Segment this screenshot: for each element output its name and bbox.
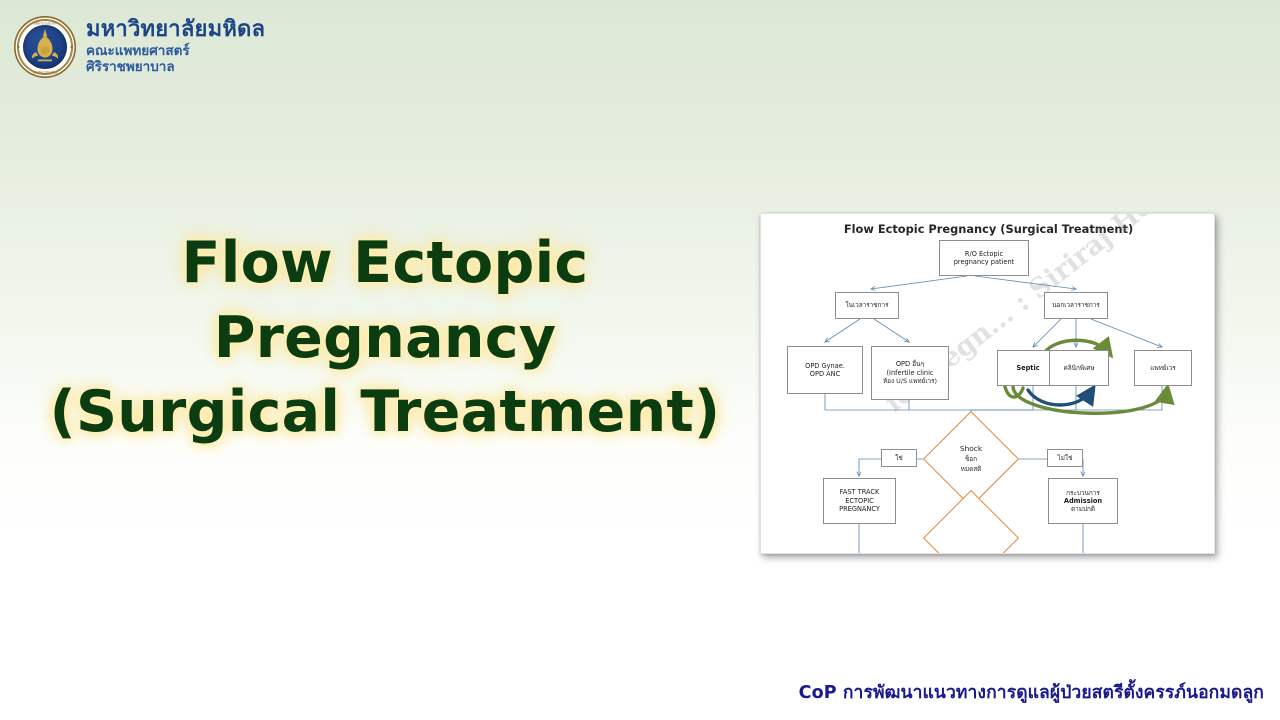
node-in-hours: ในเวลาราชการ bbox=[835, 292, 899, 319]
node-text: Shock bbox=[960, 443, 982, 454]
node-fast-track: FAST TRACK ECTOPIC PREGNANCY bbox=[823, 478, 896, 524]
node-text: OPD ANC bbox=[810, 370, 840, 378]
title-line-1: Flow Ectopic bbox=[40, 226, 730, 301]
node-doctor-on-call: แพทย์เวร bbox=[1134, 350, 1192, 386]
branch-label-yes: ใช่ bbox=[881, 449, 917, 467]
flowchart-image: Flow Ectopic Pregnancy (Surgical Treatme… bbox=[760, 213, 1215, 554]
page-title: Flow Ectopic Pregnancy (Surgical Treatme… bbox=[40, 226, 730, 450]
node-text: FAST TRACK bbox=[840, 488, 880, 496]
node-text: หมดสติ bbox=[961, 465, 982, 475]
node-text: (Infertile clinic bbox=[886, 369, 933, 377]
node-text: R/O Ectopic bbox=[965, 250, 1003, 258]
node-text: OPD อื่นๆ bbox=[896, 360, 924, 368]
branch-label-no: ไม่ใช่ bbox=[1047, 449, 1083, 467]
slide-canvas: อตฺตานํ อุปมํ กเร มหาวิทยาลัยมหิดล มหาวิ… bbox=[0, 0, 1280, 720]
node-text: นอกเวลาราชการ bbox=[1052, 301, 1100, 309]
node-text: ใช่ bbox=[895, 454, 902, 462]
node-text: ห้อง U/S แพทย์เวร) bbox=[883, 377, 937, 385]
svg-text:อตฺตานํ อุปมํ กเร: อตฺตานํ อุปมํ กเร bbox=[34, 22, 56, 27]
decision-shock-label: Shock ช็อก หมดสติ bbox=[927, 432, 1015, 486]
node-text: Admission bbox=[1064, 497, 1102, 505]
node-text: ECTOPIC bbox=[845, 497, 874, 505]
node-text: pregnancy patient bbox=[954, 258, 1014, 266]
footer-caption: CoP การพัฒนาแนวทางการดูแลผู้ป่วยสตรีตั้ง… bbox=[799, 678, 1264, 706]
node-text: แพทย์เวร bbox=[1150, 364, 1176, 372]
node-text: PREGNANCY bbox=[839, 505, 880, 513]
node-text: ในเวลาราชการ bbox=[845, 301, 888, 309]
university-name: มหาวิทยาลัยมหิดล bbox=[86, 17, 265, 42]
title-line-2: Pregnancy bbox=[40, 301, 730, 376]
node-special-clinic: คลินิกพิเศษ bbox=[1049, 350, 1109, 386]
node-text: ช็อก bbox=[965, 455, 977, 465]
node-text: ตามปกติ bbox=[1071, 505, 1095, 513]
node-text: Septic bbox=[1016, 364, 1039, 372]
brand-text-block: มหาวิทยาลัยมหิดล คณะแพทยศาสตร์ ศิริราชพย… bbox=[86, 16, 265, 75]
title-line-3: (Surgical Treatment) bbox=[40, 375, 730, 450]
node-root: R/O Ectopic pregnancy patient bbox=[939, 240, 1029, 276]
hospital-name: ศิริราชพยาบาล bbox=[86, 59, 265, 75]
node-text: กระบวนการ bbox=[1066, 489, 1100, 497]
mahidol-seal-icon: อตฺตานํ อุปมํ กเร มหาวิทยาลัยมหิดล bbox=[14, 16, 76, 78]
node-text: ไม่ใช่ bbox=[1058, 454, 1073, 462]
svg-text:มหาวิทยาลัยมหิดล: มหาวิทยาลัยมหิดล bbox=[33, 71, 58, 75]
node-out-hours: นอกเวลาราชการ bbox=[1044, 292, 1108, 319]
node-opd-gynae: OPD Gynae. OPD ANC bbox=[787, 346, 863, 394]
node-admission: กระบวนการ Admission ตามปกติ bbox=[1048, 478, 1118, 524]
node-text: คลินิกพิเศษ bbox=[1063, 364, 1094, 372]
node-opd-other: OPD อื่นๆ (Infertile clinic ห้อง U/S แพท… bbox=[871, 346, 949, 400]
faculty-name: คณะแพทยศาสตร์ bbox=[86, 43, 265, 59]
brand-header: อตฺตานํ อุปมํ กเร มหาวิทยาลัยมหิดล มหาวิ… bbox=[14, 16, 265, 78]
node-text: OPD Gynae. bbox=[805, 362, 845, 370]
